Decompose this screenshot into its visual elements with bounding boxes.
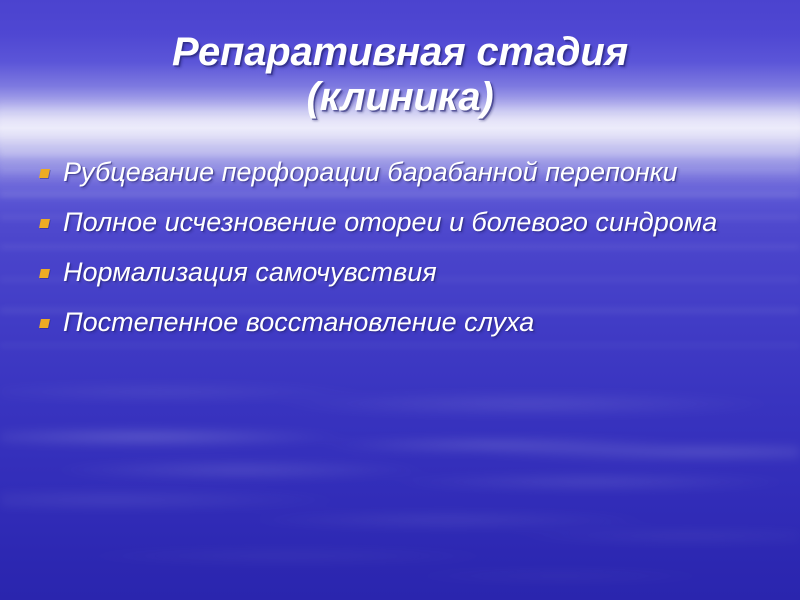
slide-content: Репаративная стадия (клиника) Рубцевание… — [0, 0, 800, 600]
bullet-list: Рубцевание перфорации барабанной перепон… — [34, 152, 770, 352]
square-bullet-icon — [39, 319, 50, 328]
list-item: Рубцевание перфорации барабанной перепон… — [34, 152, 770, 193]
list-item: Полное исчезновение отореи и болевого си… — [34, 202, 770, 243]
list-item-label: Рубцевание перфорации барабанной перепон… — [63, 157, 678, 187]
square-bullet-icon — [39, 219, 50, 228]
list-item: Нормализация самочувствия — [34, 252, 770, 293]
list-item-label: Нормализация самочувствия — [63, 257, 437, 287]
list-item-label: Постепенное восстановление слуха — [63, 307, 534, 337]
list-item-label: Полное исчезновение отореи и болевого си… — [63, 207, 717, 237]
list-item: Постепенное восстановление слуха — [34, 302, 770, 343]
square-bullet-icon — [39, 269, 50, 278]
square-bullet-icon — [39, 169, 50, 178]
presentation-slide: Репаративная стадия (клиника) Рубцевание… — [0, 0, 800, 600]
slide-title: Репаративная стадия (клиника) — [60, 30, 740, 120]
